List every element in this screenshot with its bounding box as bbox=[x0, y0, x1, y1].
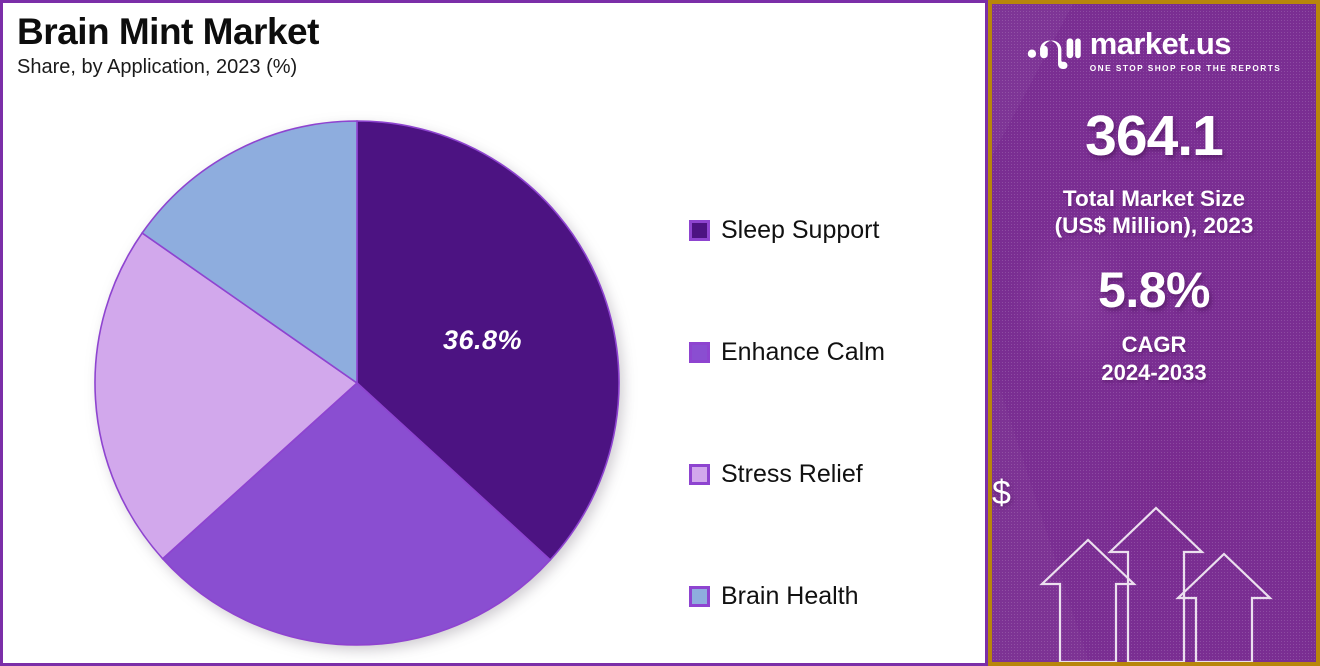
pie-chart: 36.8% bbox=[91, 117, 623, 649]
market-size-caption-line2: (US$ Million), 2023 bbox=[1055, 212, 1254, 239]
page-subtitle: Share, by Application, 2023 (%) bbox=[17, 56, 319, 79]
legend-label-enhance-calm: Enhance Calm bbox=[721, 338, 885, 367]
brand-logo-text: market.us ONE STOP SHOP FOR THE REPORTS bbox=[1090, 28, 1281, 73]
brand-panel: $ market.us ONE STOP SHOP FOR THE REPORT… bbox=[988, 0, 1320, 666]
legend-label-sleep-support: Sleep Support bbox=[721, 216, 879, 245]
market-size-value: 364.1 bbox=[1085, 108, 1223, 165]
brand-logo[interactable]: market.us ONE STOP SHOP FOR THE REPORTS bbox=[1027, 28, 1281, 73]
cagr-caption: CAGR 2024-2033 bbox=[1101, 331, 1206, 386]
infographic-root: Brain Mint Market Share, by Application,… bbox=[0, 0, 1320, 666]
legend-swatch-icon-stress-relief bbox=[689, 464, 710, 485]
legend-item-enhance-calm[interactable]: Enhance Calm bbox=[689, 291, 979, 413]
chart-panel: Brain Mint Market Share, by Application,… bbox=[0, 0, 988, 666]
legend-swatch-icon-sleep-support bbox=[689, 220, 710, 241]
pie-chart-svg bbox=[91, 117, 623, 649]
page-title: Brain Mint Market bbox=[17, 11, 319, 52]
chart-legend: Sleep Support Enhance Calm Stress Relief… bbox=[689, 169, 979, 657]
legend-item-stress-relief[interactable]: Stress Relief bbox=[689, 413, 979, 535]
brand-content: market.us ONE STOP SHOP FOR THE REPORTS … bbox=[992, 4, 1316, 662]
pie-slice-label-sleep-support: 36.8% bbox=[443, 325, 522, 356]
legend-item-sleep-support[interactable]: Sleep Support bbox=[689, 169, 979, 291]
cagr-caption-line1: CAGR bbox=[1101, 331, 1206, 359]
legend-item-brain-health[interactable]: Brain Health bbox=[689, 535, 979, 657]
legend-label-stress-relief: Stress Relief bbox=[721, 460, 863, 489]
legend-swatch-icon-brain-health bbox=[689, 586, 710, 607]
cagr-caption-line2: 2024-2033 bbox=[1101, 359, 1206, 387]
title-block: Brain Mint Market Share, by Application,… bbox=[17, 11, 319, 79]
market-us-logo-icon bbox=[1027, 29, 1081, 73]
brand-logo-tagline: ONE STOP SHOP FOR THE REPORTS bbox=[1090, 63, 1281, 73]
market-size-caption: Total Market Size (US$ Million), 2023 bbox=[1055, 185, 1254, 239]
cagr-value: 5.8% bbox=[1098, 265, 1210, 315]
legend-label-brain-health: Brain Health bbox=[721, 582, 859, 611]
brand-logo-word: market.us bbox=[1090, 28, 1281, 59]
market-size-caption-line1: Total Market Size bbox=[1055, 185, 1254, 212]
legend-swatch-icon-enhance-calm bbox=[689, 342, 710, 363]
